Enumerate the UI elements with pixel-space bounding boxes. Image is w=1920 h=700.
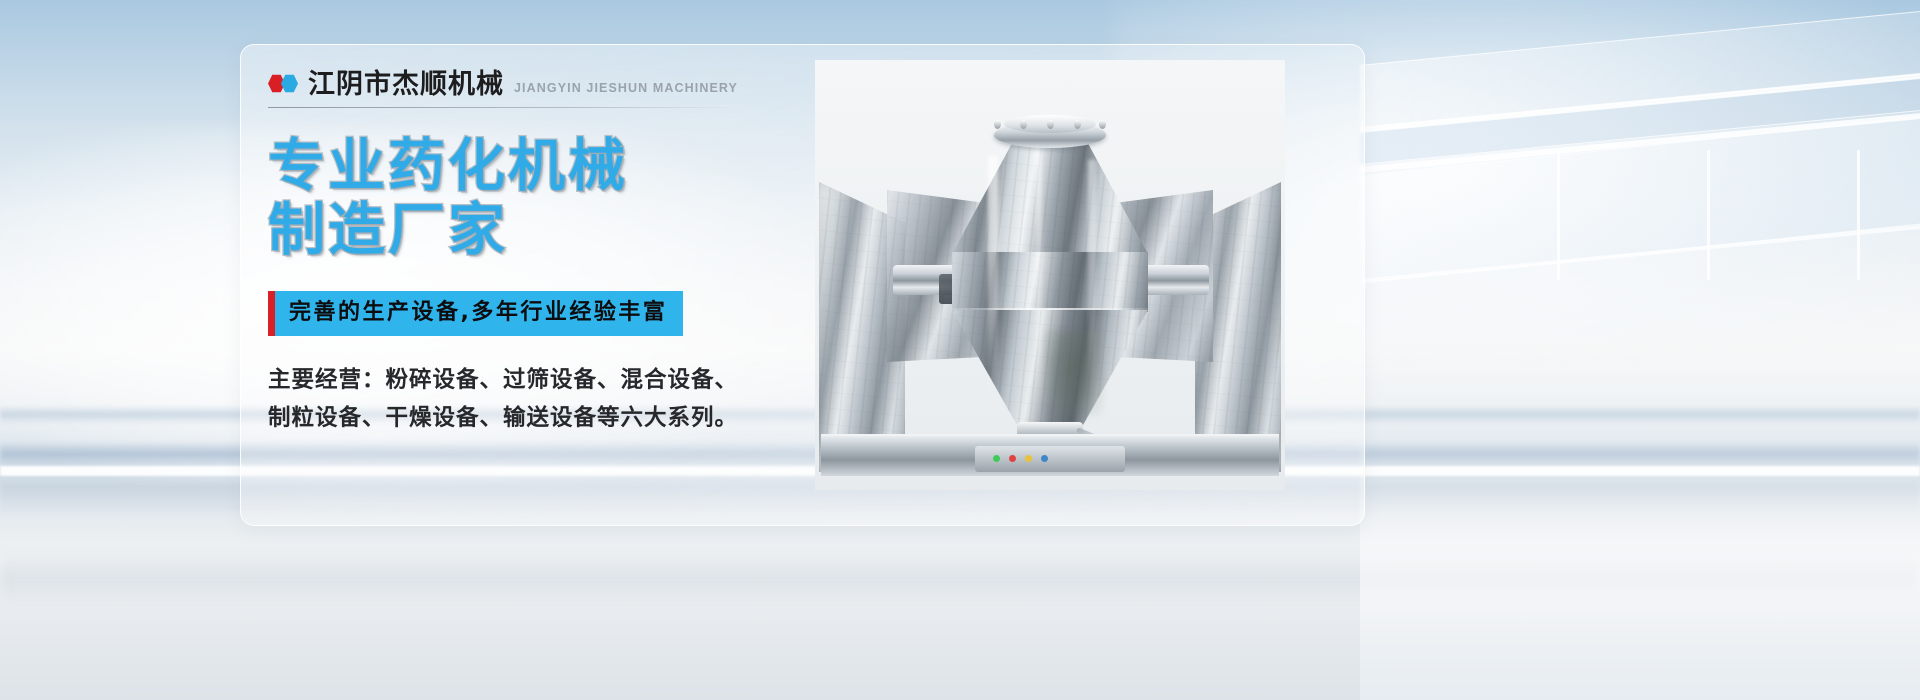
manway-bolt-1 — [994, 120, 1001, 129]
machine-cylinder — [952, 252, 1148, 312]
control-led-red — [1009, 455, 1016, 462]
floor-glow — [1360, 400, 1920, 700]
control-led-yellow — [1025, 455, 1032, 462]
mullion-3 — [1557, 150, 1560, 280]
control-led-blue — [1041, 455, 1048, 462]
tagline-text: 完善的生产设备,多年行业经验丰富 — [289, 302, 667, 324]
headline: 专业药化机械 制造厂家 — [268, 134, 768, 263]
company-name-en: JIANGYIN JIESHUN MACHINERY — [514, 82, 738, 95]
hexagon-blue-icon — [281, 74, 298, 93]
manway-bolt-5 — [1099, 120, 1106, 129]
business-scope-description: 主要经营：粉碎设备、过筛设备、混合设备、 制粒设备、干燥设备、输送设备等六大系列… — [268, 362, 768, 438]
manway-bolt-3 — [1047, 120, 1054, 129]
company-logo-icon — [268, 74, 298, 93]
manway-bolt-2 — [1020, 120, 1027, 129]
machine-control-panel — [975, 446, 1125, 472]
brand-lockup: 江阴市杰顺机械 JIANGYIN JIESHUN MACHINERY — [268, 62, 768, 98]
background-architecture — [1360, 0, 1920, 700]
control-led-green — [993, 455, 1000, 462]
mullion-1 — [1857, 150, 1860, 280]
mullion-2 — [1707, 150, 1710, 280]
company-name-cn: 江阴市杰顺机械 — [308, 71, 504, 98]
content-column: 江阴市杰顺机械 JIANGYIN JIESHUN MACHINERY 专业药化机… — [268, 62, 768, 437]
manway-bolt-4 — [1074, 120, 1081, 129]
machine-reflection — [1044, 330, 1104, 416]
product-photo — [815, 60, 1285, 490]
tagline-strip: 完善的生产设备,多年行业经验丰富 — [268, 291, 683, 336]
brand-divider — [268, 107, 736, 108]
promo-banner: 江阴市杰顺机械 JIANGYIN JIESHUN MACHINERY 专业药化机… — [0, 0, 1920, 700]
